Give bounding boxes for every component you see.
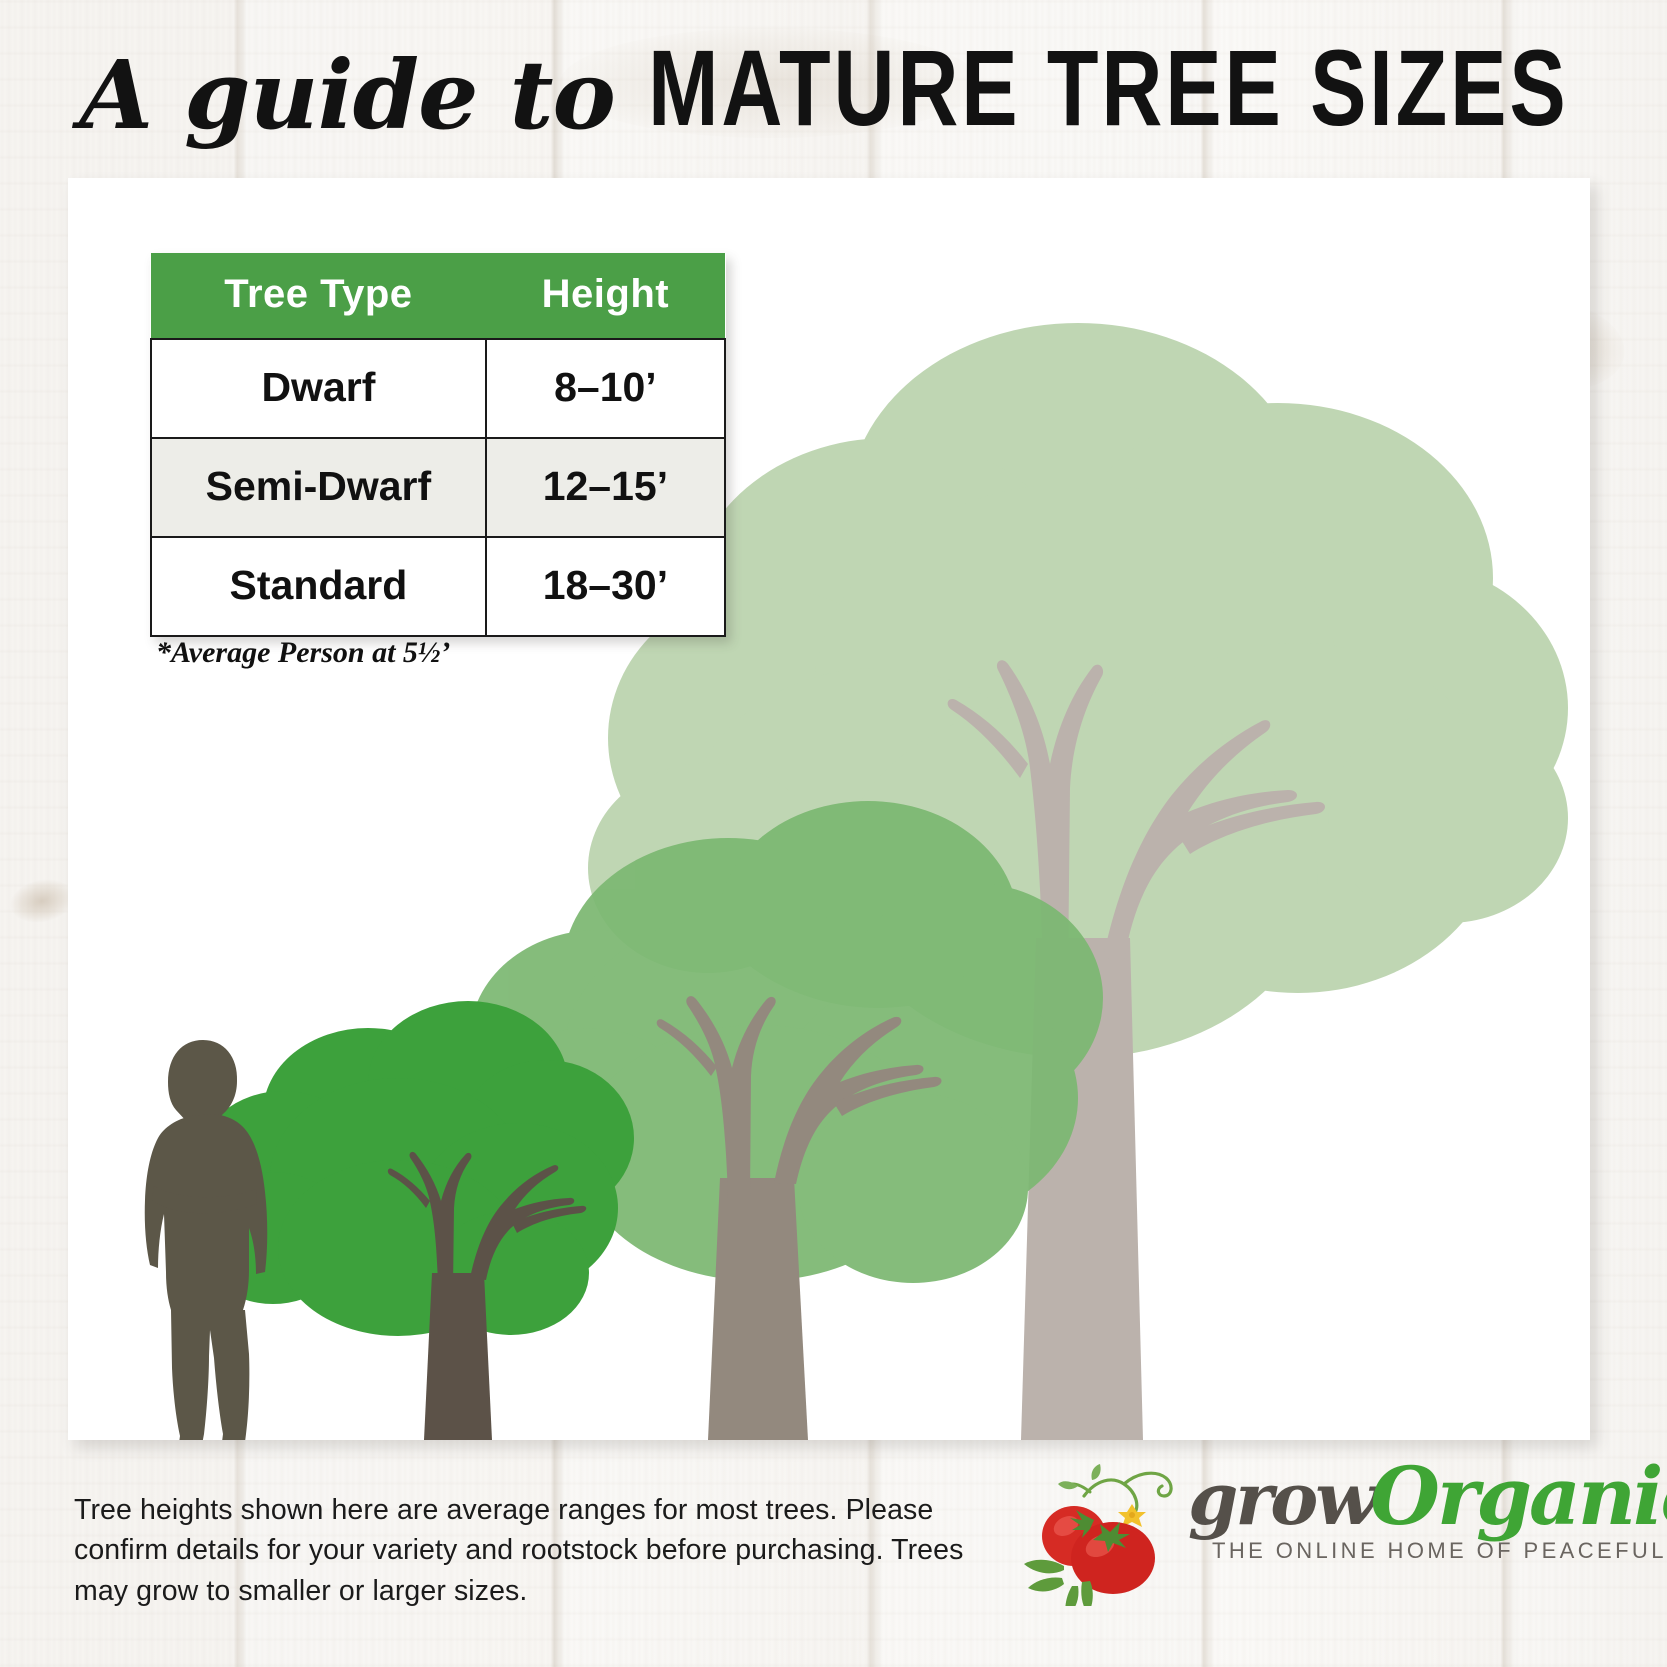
logo-tagline: THE ONLINE HOME OF PEACEFUL VALLEY <box>1212 1538 1667 1564</box>
table-row: Dwarf 8–10’ <box>151 339 725 438</box>
cell-tree-type: Dwarf <box>151 339 486 438</box>
cell-tree-type: Semi-Dwarf <box>151 438 486 537</box>
title-block-part: MATURE TREE SIZES <box>648 35 1568 142</box>
cell-height: 8–10’ <box>486 339 725 438</box>
table-header-row: Tree Type Height <box>151 253 725 339</box>
title-script-part: A guide to <box>79 40 615 151</box>
infographic-card: Tree Type Height Dwarf 8–10’ Semi-Dwarf … <box>68 178 1590 1440</box>
wood-knot-icon <box>6 874 77 928</box>
disclaimer-text: Tree heights shown here are average rang… <box>74 1490 974 1611</box>
column-header-height: Height <box>486 253 725 339</box>
logo-wordmark: growOrganic.COM <box>1188 1456 1667 1536</box>
logo-organic-text: Organic <box>1370 1449 1667 1543</box>
cell-tree-type: Standard <box>151 537 486 636</box>
cell-height: 12–15’ <box>486 438 725 537</box>
logo-grow-text: grow <box>1188 1456 1374 1541</box>
cell-height: 18–30’ <box>486 537 725 636</box>
grow-organic-logo[interactable]: growOrganic.COM THE ONLINE HOME OF PEACE… <box>1020 1418 1620 1618</box>
tomato-vine-icon <box>1020 1436 1200 1606</box>
tree-size-table: Tree Type Height Dwarf 8–10’ Semi-Dwarf … <box>150 253 726 637</box>
table-row: Standard 18–30’ <box>151 537 725 636</box>
page-title: A guide toMATURE TREE SIZES <box>0 48 1667 143</box>
column-header-tree-type: Tree Type <box>151 253 486 339</box>
table-row: Semi-Dwarf 12–15’ <box>151 438 725 537</box>
table-footnote: *Average Person at 5½’ <box>156 636 450 670</box>
